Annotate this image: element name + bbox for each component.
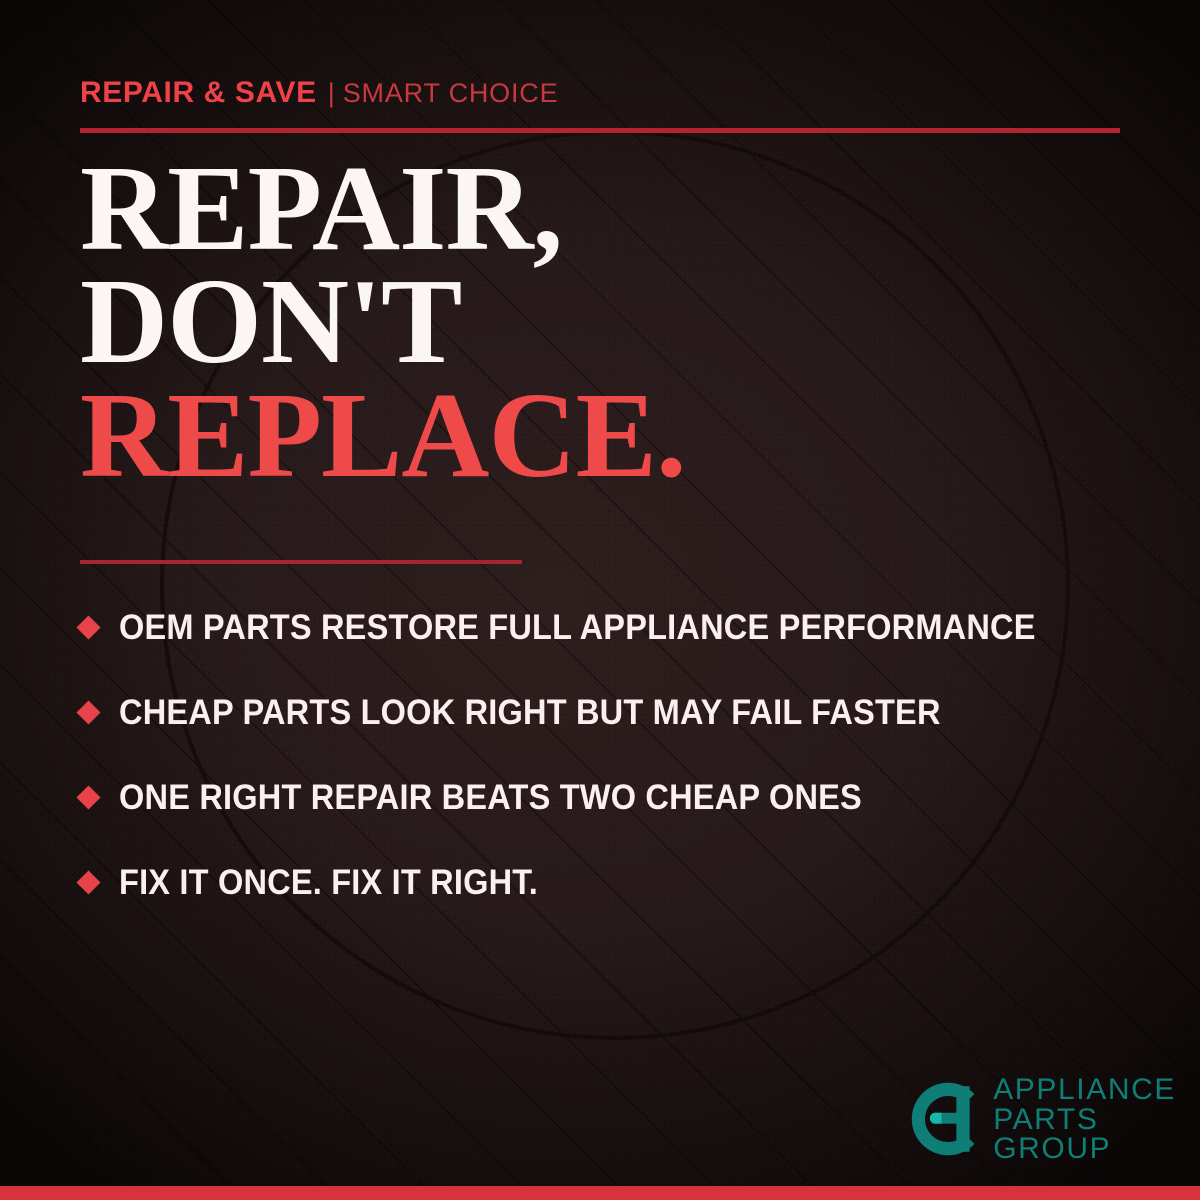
brand-logo: APPLIANCE PARTS GROUP xyxy=(901,1075,1176,1164)
list-item-label: FIX IT ONCE. FIX IT RIGHT. xyxy=(119,863,538,903)
headline-divider-rule xyxy=(80,560,522,564)
headline-line-3: REPLACE. xyxy=(80,379,1140,492)
g-monogram-icon xyxy=(901,1080,979,1158)
diamond-bullet-icon xyxy=(76,870,100,894)
promo-poster: REPAIR & SAVE | SMART CHOICE REPAIR, DON… xyxy=(0,0,1200,1200)
headline-line-2: DON'T xyxy=(80,265,1140,378)
list-item: ONE RIGHT REPAIR BEATS TWO CHEAP ONES xyxy=(80,755,1150,840)
list-item: FIX IT ONCE. FIX IT RIGHT. xyxy=(80,840,1150,925)
diamond-bullet-icon xyxy=(76,785,100,809)
list-item-label: ONE RIGHT REPAIR BEATS TWO CHEAP ONES xyxy=(119,778,862,818)
eyebrow-light-text: SMART CHOICE xyxy=(343,78,559,109)
list-item: CHEAP PARTS LOOK RIGHT BUT MAY FAIL FAST… xyxy=(80,670,1150,755)
list-item-label: OEM PARTS RESTORE FULL APPLIANCE PERFORM… xyxy=(119,608,1036,648)
brand-word-line-1: APPLIANCE xyxy=(993,1075,1176,1105)
headline-line-1: REPAIR, xyxy=(80,152,1140,265)
page-title: REPAIR, DON'T REPLACE. xyxy=(80,152,1140,492)
eyebrow-separator: | xyxy=(328,78,335,109)
diamond-bullet-icon xyxy=(76,700,100,724)
list-item: OEM PARTS RESTORE FULL APPLIANCE PERFORM… xyxy=(80,585,1150,670)
benefits-list: OEM PARTS RESTORE FULL APPLIANCE PERFORM… xyxy=(80,585,1150,925)
brand-word-line-2: PARTS xyxy=(993,1105,1176,1135)
diamond-bullet-icon xyxy=(76,615,100,639)
brand-word-line-3: GROUP xyxy=(993,1134,1176,1164)
bottom-accent-bar xyxy=(0,1186,1200,1200)
brand-wordmark: APPLIANCE PARTS GROUP xyxy=(993,1075,1176,1164)
list-item-label: CHEAP PARTS LOOK RIGHT BUT MAY FAIL FAST… xyxy=(119,693,941,733)
header-divider-rule xyxy=(80,128,1120,133)
poster-content: REPAIR & SAVE | SMART CHOICE REPAIR, DON… xyxy=(0,0,1200,1200)
eyebrow-strong-text: REPAIR & SAVE xyxy=(80,76,317,110)
eyebrow-kicker: REPAIR & SAVE | SMART CHOICE xyxy=(80,76,558,110)
